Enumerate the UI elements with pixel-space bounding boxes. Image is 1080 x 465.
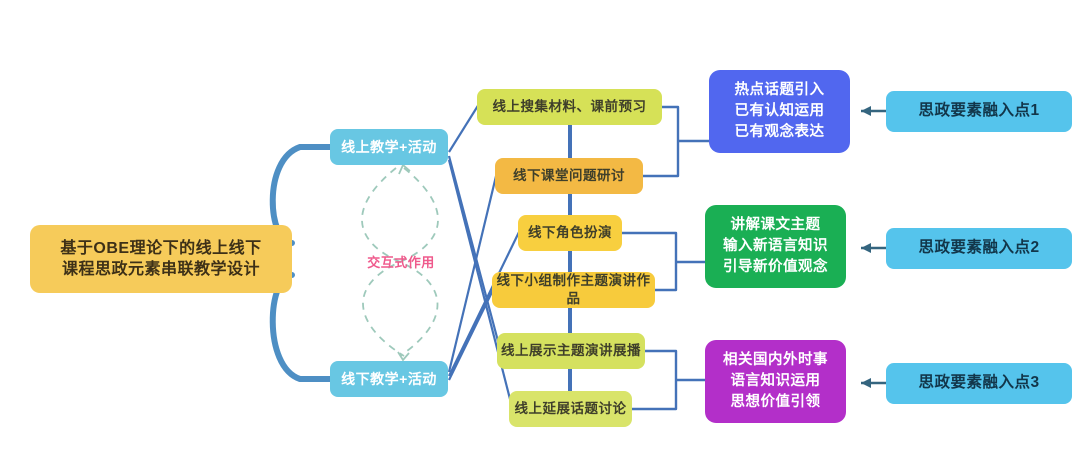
mode-node-online[interactable]: 线上教学+活动 [330, 129, 448, 165]
interaction-arrow-up [399, 165, 410, 174]
element-node-3[interactable]: 相关国内外时事 语言知识运用 思想价值引领 [705, 340, 846, 423]
wire-online-act5 [449, 156, 499, 345]
element-node-2[interactable]: 讲解课文主题 输入新语言知识 引导新价值观念 [705, 205, 846, 288]
arrow-pt2-icon [861, 243, 871, 253]
mode-node-offline[interactable]: 线下教学+活动 [330, 361, 448, 397]
arrow-pt3-icon [861, 378, 871, 388]
activity-node-3[interactable]: 线下角色扮演 [518, 215, 622, 251]
interaction-label: 交互式作用 [355, 252, 447, 271]
activity-node-2[interactable]: 线下课堂问题研讨 [495, 158, 643, 194]
activity-node-4[interactable]: 线下小组制作主题演讲作品 [492, 272, 655, 308]
integration-point-2[interactable]: 思政要素融入点2 [886, 228, 1072, 269]
activity-node-6[interactable]: 线上延展话题讨论 [509, 391, 632, 427]
integration-point-1[interactable]: 思政要素融入点1 [886, 91, 1072, 132]
wire-offline-act2 [449, 172, 497, 372]
wire-online-act1 [449, 104, 479, 152]
diagram-canvas: 基于OBE理论下的线上线下 课程思政元素串联教学设计 线上教学+活动 线下教学+… [0, 0, 1080, 465]
element-node-1[interactable]: 热点话题引入 已有认知运用 已有观念表达 [709, 70, 850, 153]
wire-offline-act4 [449, 288, 494, 380]
activity-node-5[interactable]: 线上展示主题演讲展播 [497, 333, 645, 369]
interaction-arrow-down [398, 352, 409, 360]
integration-point-3[interactable]: 思政要素融入点3 [886, 363, 1072, 404]
arrow-pt1-icon [861, 106, 871, 116]
activity-node-1[interactable]: 线上搜集材料、课前预习 [477, 89, 662, 125]
root-title-node[interactable]: 基于OBE理论下的线上线下 课程思政元素串联教学设计 [30, 225, 292, 293]
